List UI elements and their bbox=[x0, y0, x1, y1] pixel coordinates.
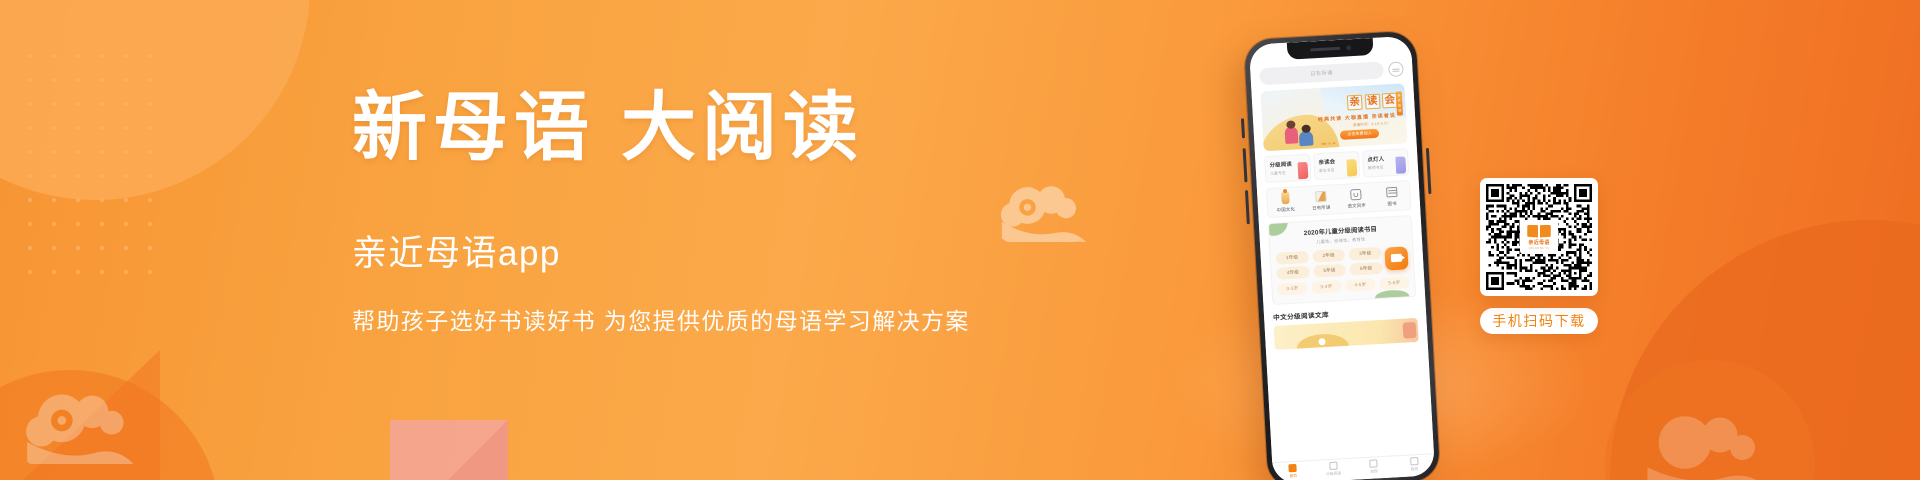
banner-copy: 新母语大阅读 亲近母语app 帮助孩子选好书读好书 为您提供优质的母语学习解决方… bbox=[352, 88, 1052, 336]
scan-download-label: 手机扫码下载 bbox=[1492, 311, 1586, 331]
age-pill[interactable]: 4-5岁 bbox=[1345, 278, 1376, 292]
page-title: 新母语大阅读 bbox=[352, 88, 1052, 169]
app-hero-banner[interactable]: 亲 读 会 亲近母语 经典共读 大咖直播 亲读者说 直播时间：9.16-9.27… bbox=[1260, 83, 1407, 151]
ruyi-cloud-icon bbox=[1640, 405, 1790, 480]
bookmark-red-icon bbox=[1297, 162, 1308, 180]
sync-circle-icon bbox=[1339, 187, 1374, 202]
tab-home[interactable]: 首页 bbox=[1280, 463, 1307, 479]
decor-dot-grid bbox=[18, 44, 166, 284]
home-icon bbox=[1280, 463, 1306, 473]
grade-pill[interactable]: 6年级 bbox=[1350, 262, 1383, 276]
hero-join-button[interactable]: 点击免费加入 bbox=[1340, 129, 1379, 140]
age-pill[interactable]: 3-4岁 bbox=[1311, 280, 1342, 294]
qr-center-logo: 亲近母语 QIN JIN MU YU bbox=[1520, 220, 1558, 254]
tagline: 帮助孩子选好书读好书 为您提供优质的母语学习解决方案 bbox=[352, 302, 1052, 336]
book-icon bbox=[1374, 185, 1409, 200]
zone-card-row: 分级阅读 儿童专区 亲读会 家长专区 点灯人 教师专区 bbox=[1264, 148, 1409, 183]
brand-book-icon bbox=[1527, 225, 1551, 238]
quick-link-label: 日有所诵 bbox=[1304, 204, 1338, 212]
zone-card-graded-reading[interactable]: 分级阅读 儿童专区 bbox=[1264, 154, 1311, 184]
quick-link-books[interactable]: 图书 bbox=[1374, 185, 1409, 208]
tab-label: 首页 bbox=[1280, 473, 1306, 479]
ruyi-cloud-icon bbox=[25, 388, 155, 464]
hero-child-illustration bbox=[1299, 130, 1314, 146]
age-pill[interactable]: 0-3岁 bbox=[1277, 281, 1308, 295]
brand-pinyin: QIN JIN MU YU bbox=[1529, 247, 1550, 250]
headline-part-1: 新母语 bbox=[352, 87, 595, 170]
hero-title-char: 读 bbox=[1364, 94, 1380, 110]
video-play-icon[interactable] bbox=[1384, 246, 1408, 270]
hero-side-tag: 亲近母语 bbox=[1396, 91, 1403, 115]
hero-title-char: 亲 bbox=[1347, 95, 1363, 111]
app-home-screen: 日有所诵 亲 读 会 亲近母语 经典共读 大咖直播 bbox=[1249, 36, 1435, 480]
booklist-card: 2020年儿童分级阅读书目 儿童性、经典性、教育性 1年级 2年级 3年级 4年… bbox=[1268, 215, 1416, 305]
library-card[interactable] bbox=[1274, 318, 1419, 350]
grade-pill[interactable]: 2年级 bbox=[1312, 248, 1345, 262]
phone-power-button[interactable] bbox=[1426, 148, 1432, 194]
chat-bubble-icon[interactable] bbox=[1388, 61, 1404, 77]
hero-child-illustration bbox=[1284, 126, 1298, 144]
app-search-row: 日有所诵 bbox=[1259, 60, 1404, 85]
zone-card-teacher[interactable]: 点灯人 教师专区 bbox=[1362, 148, 1409, 178]
speaker-icon bbox=[1310, 47, 1340, 52]
quick-link-row: 中国文化 日有所诵 语文同步 图书 bbox=[1266, 180, 1411, 218]
user-icon bbox=[1401, 456, 1427, 466]
open-book-icon bbox=[1303, 189, 1338, 204]
tab-label: 我的 bbox=[1401, 466, 1427, 472]
search-input[interactable]: 日有所诵 bbox=[1259, 61, 1384, 85]
phone-volume-up-button[interactable] bbox=[1243, 148, 1248, 182]
quick-link-culture[interactable]: 中国文化 bbox=[1268, 191, 1303, 214]
phone-screen: 日有所诵 亲 读 会 亲近母语 经典共读 大咖直播 bbox=[1249, 36, 1435, 480]
age-pill[interactable]: 5-6岁 bbox=[1379, 276, 1410, 290]
search-placeholder: 日有所诵 bbox=[1310, 69, 1333, 77]
grade-pill[interactable]: 4年级 bbox=[1276, 266, 1309, 280]
decor-pink-cube bbox=[390, 420, 508, 480]
tab-label: 分级阅读 bbox=[1321, 471, 1347, 477]
zone-card-parent-club[interactable]: 亲读会 家长专区 bbox=[1313, 151, 1360, 181]
quick-link-sync[interactable]: 语文同步 bbox=[1339, 187, 1374, 210]
app-tab-bar: 首页 分级阅读 发现 我的 bbox=[1272, 453, 1435, 480]
qr-pixels: 亲近母语 QIN JIN MU YU bbox=[1486, 184, 1592, 290]
grade-selector: 1年级 2年级 3年级 4年级 5年级 6年级 0-3岁 3-4岁 4- bbox=[1275, 245, 1409, 295]
front-camera-icon bbox=[1346, 45, 1351, 50]
bookmark-purple-icon bbox=[1395, 156, 1406, 174]
hero-date-line: 直播时间：9.16-9.27 bbox=[1353, 120, 1389, 127]
quick-link-label: 语文同步 bbox=[1340, 202, 1374, 210]
phone-mockup: 日有所诵 亲 读 会 亲近母语 经典共读 大咖直播 bbox=[1244, 31, 1441, 480]
quick-link-label: 中国文化 bbox=[1269, 206, 1303, 214]
tab-graded-reading[interactable]: 分级阅读 bbox=[1320, 461, 1347, 477]
grade-pill[interactable]: 1年级 bbox=[1275, 250, 1308, 264]
hill-decor-icon bbox=[1375, 289, 1410, 304]
quick-link-label: 图书 bbox=[1375, 200, 1409, 208]
bookmark-yellow-icon bbox=[1346, 159, 1357, 177]
phone-mute-button[interactable] bbox=[1241, 118, 1245, 138]
phone-volume-down-button[interactable] bbox=[1245, 190, 1250, 224]
culture-lamp-icon bbox=[1268, 191, 1303, 206]
tab-discover[interactable]: 发现 bbox=[1360, 458, 1387, 474]
grid-icon bbox=[1320, 461, 1346, 471]
promo-banner: 新母语大阅读 亲近母语app 帮助孩子选好书读好书 为您提供优质的母语学习解决方… bbox=[0, 0, 1920, 480]
grade-pill[interactable]: 3年级 bbox=[1349, 246, 1382, 260]
hero-title: 亲 读 会 bbox=[1347, 93, 1398, 111]
headline-part-2: 大阅读 bbox=[621, 87, 864, 170]
quick-link-recite[interactable]: 日有所诵 bbox=[1303, 189, 1338, 212]
tab-label: 发现 bbox=[1361, 468, 1387, 474]
compass-icon bbox=[1360, 458, 1386, 468]
scan-download-button[interactable]: 手机扫码下载 bbox=[1480, 308, 1598, 334]
tab-profile[interactable]: 我的 bbox=[1401, 456, 1428, 472]
brand-name: 亲近母语 bbox=[1528, 239, 1549, 246]
library-tab-decor bbox=[1403, 322, 1417, 339]
qr-code[interactable]: 亲近母语 QIN JIN MU YU bbox=[1480, 178, 1598, 296]
grade-pill[interactable]: 5年级 bbox=[1313, 264, 1346, 278]
app-name-subtitle: 亲近母语app bbox=[352, 225, 1052, 276]
qr-download-block: 亲近母语 QIN JIN MU YU 手机扫码下载 bbox=[1480, 178, 1648, 334]
